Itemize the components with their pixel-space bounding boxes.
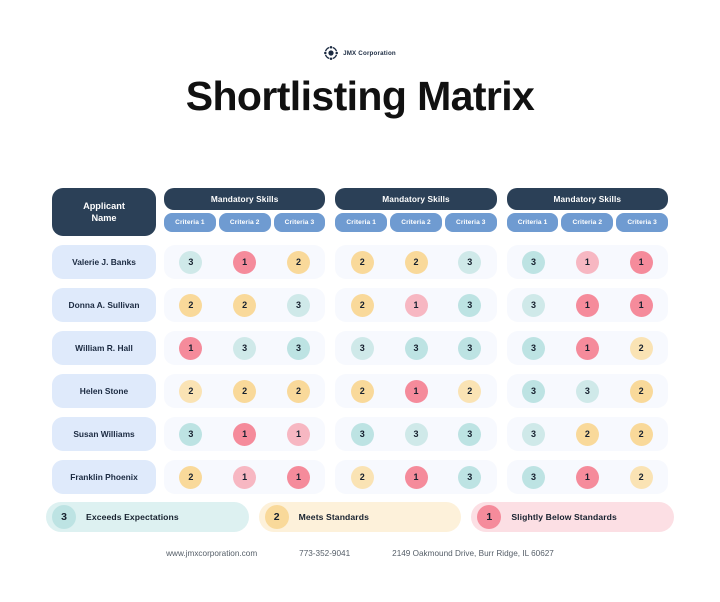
score-cell: 1 [272, 466, 326, 489]
skill-group-1: Mandatory Skills Criteria 1 Criteria 2 C… [164, 188, 325, 236]
score-group-2: 223 [335, 245, 496, 279]
score-cell: 3 [335, 337, 389, 360]
legend-item-1: 1 Slightly Below Standards [471, 502, 674, 532]
score-cell: 3 [507, 466, 561, 489]
score-dot[interactable]: 2 [351, 380, 374, 403]
table-body: Valerie J. Banks312223311Donna A. Sulliv… [52, 245, 668, 494]
score-cell: 3 [389, 423, 443, 446]
score-dot[interactable]: 1 [233, 423, 256, 446]
score-cell: 2 [389, 251, 443, 274]
score-group-2: 333 [335, 417, 496, 451]
table-row: Susan Williams311333322 [52, 417, 668, 451]
score-dot[interactable]: 3 [522, 380, 545, 403]
skill-group-1-criteria: Criteria 1 Criteria 2 Criteria 3 [164, 213, 325, 232]
score-cell: 1 [218, 466, 272, 489]
score-cell: 1 [560, 294, 614, 317]
score-cell: 1 [560, 337, 614, 360]
score-cell: 3 [443, 251, 497, 274]
footer-website[interactable]: www.jmxcorporation.com [166, 549, 257, 558]
legend-item-2: 2 Meets Standards [259, 502, 462, 532]
score-dot[interactable]: 1 [233, 466, 256, 489]
score-group-3: 311 [507, 245, 668, 279]
criteria-pill-g1-c3[interactable]: Criteria 3 [274, 213, 326, 232]
score-cell: 3 [507, 251, 561, 274]
footer-phone: 773-352-9041 [299, 549, 350, 558]
legend-label-2: Meets Standards [299, 512, 369, 522]
skill-group-1-title: Mandatory Skills [164, 188, 325, 210]
legend-dot-3: 3 [52, 505, 76, 529]
score-dot[interactable]: 3 [458, 466, 481, 489]
applicant-name-cell[interactable]: Helen Stone [52, 374, 156, 408]
score-dot[interactable]: 1 [576, 294, 599, 317]
score-cell: 2 [614, 423, 668, 446]
score-dot[interactable]: 2 [233, 294, 256, 317]
score-groups: 133333312 [164, 331, 668, 365]
score-dot[interactable]: 1 [405, 466, 428, 489]
criteria-pill-g2-c2[interactable]: Criteria 2 [390, 213, 442, 232]
score-dot[interactable]: 2 [179, 466, 202, 489]
score-dot[interactable]: 3 [405, 423, 428, 446]
score-group-3: 332 [507, 374, 668, 408]
score-group-2: 333 [335, 331, 496, 365]
score-group-3: 312 [507, 460, 668, 494]
criteria-pill-g3-c3[interactable]: Criteria 3 [616, 213, 668, 232]
score-dot[interactable]: 1 [233, 251, 256, 274]
score-dot[interactable]: 3 [522, 337, 545, 360]
score-dot[interactable]: 2 [630, 380, 653, 403]
score-dot[interactable]: 2 [351, 466, 374, 489]
skill-group-3-title: Mandatory Skills [507, 188, 668, 210]
score-group-1: 133 [164, 331, 325, 365]
score-groups: 311333322 [164, 417, 668, 451]
score-cell: 3 [443, 294, 497, 317]
table-row: Helen Stone222212332 [52, 374, 668, 408]
score-group-1: 223 [164, 288, 325, 322]
skill-group-2-criteria: Criteria 1 Criteria 2 Criteria 3 [335, 213, 496, 232]
score-cell: 3 [443, 466, 497, 489]
score-cell: 3 [507, 294, 561, 317]
score-group-2: 213 [335, 288, 496, 322]
page-title: Shortlisting Matrix [0, 76, 720, 117]
skill-group-2-title: Mandatory Skills [335, 188, 496, 210]
score-dot[interactable]: 3 [458, 251, 481, 274]
score-dot[interactable]: 2 [630, 466, 653, 489]
score-group-1: 211 [164, 460, 325, 494]
score-dot[interactable]: 1 [576, 337, 599, 360]
score-dot[interactable]: 2 [179, 294, 202, 317]
score-dot[interactable]: 1 [576, 251, 599, 274]
score-cell: 2 [164, 380, 218, 403]
score-cell: 3 [443, 423, 497, 446]
score-cell: 2 [335, 466, 389, 489]
score-cell: 2 [335, 380, 389, 403]
score-cell: 1 [389, 466, 443, 489]
score-cell: 2 [335, 294, 389, 317]
score-dot[interactable]: 3 [522, 423, 545, 446]
score-dot[interactable]: 3 [458, 423, 481, 446]
applicant-name-cell[interactable]: William R. Hall [52, 331, 156, 365]
score-dot[interactable]: 1 [287, 423, 310, 446]
score-dot[interactable]: 1 [576, 466, 599, 489]
score-dot[interactable]: 2 [405, 251, 428, 274]
criteria-pill-g3-c1[interactable]: Criteria 1 [507, 213, 559, 232]
score-dot[interactable]: 3 [522, 251, 545, 274]
score-legend: 3 Exceeds Expectations 2 Meets Standards… [46, 502, 674, 532]
score-group-3: 312 [507, 331, 668, 365]
score-cell: 3 [443, 337, 497, 360]
score-dot[interactable]: 3 [351, 337, 374, 360]
applicant-name-cell[interactable]: Susan Williams [52, 417, 156, 451]
score-dot[interactable]: 3 [233, 337, 256, 360]
table-header-row: Applicant Name Mandatory Skills Criteria… [52, 188, 668, 236]
score-dot[interactable]: 3 [522, 466, 545, 489]
score-cell: 1 [560, 466, 614, 489]
score-dot[interactable]: 2 [576, 423, 599, 446]
score-cell: 1 [614, 294, 668, 317]
score-cell: 1 [560, 251, 614, 274]
footer: www.jmxcorporation.com 773-352-9041 2149… [0, 549, 720, 558]
score-dot[interactable]: 2 [287, 251, 310, 274]
score-cell: 2 [164, 294, 218, 317]
score-cell: 3 [164, 423, 218, 446]
score-cell: 3 [164, 251, 218, 274]
score-dot[interactable]: 3 [458, 337, 481, 360]
score-cell: 2 [560, 423, 614, 446]
score-groups: 211213312 [164, 460, 668, 494]
score-dot[interactable]: 3 [351, 423, 374, 446]
score-cell: 3 [389, 337, 443, 360]
legend-label-3: Exceeds Expectations [86, 512, 179, 522]
score-cell: 2 [272, 251, 326, 274]
skill-group-3-criteria: Criteria 1 Criteria 2 Criteria 3 [507, 213, 668, 232]
legend-dot-2: 2 [265, 505, 289, 529]
score-cell: 3 [507, 337, 561, 360]
score-cell: 1 [218, 423, 272, 446]
score-cell: 1 [218, 251, 272, 274]
score-dot[interactable]: 2 [351, 251, 374, 274]
score-dot[interactable]: 1 [405, 380, 428, 403]
score-dot[interactable]: 2 [351, 294, 374, 317]
legend-label-1: Slightly Below Standards [511, 512, 617, 522]
score-cell: 3 [560, 380, 614, 403]
score-dot[interactable]: 2 [630, 337, 653, 360]
score-groups: 223213311 [164, 288, 668, 322]
score-group-1: 312 [164, 245, 325, 279]
applicant-name-cell[interactable]: Valerie J. Banks [52, 245, 156, 279]
score-dot[interactable]: 2 [179, 380, 202, 403]
criteria-pill-g2-c1[interactable]: Criteria 1 [335, 213, 387, 232]
score-cell: 1 [389, 380, 443, 403]
score-cell: 1 [272, 423, 326, 446]
score-cell: 1 [389, 294, 443, 317]
score-cell: 2 [443, 380, 497, 403]
score-cell: 2 [614, 337, 668, 360]
score-cell: 3 [335, 423, 389, 446]
score-group-2: 213 [335, 460, 496, 494]
score-dot[interactable]: 3 [287, 337, 310, 360]
score-dot[interactable]: 2 [233, 380, 256, 403]
score-cell: 1 [614, 251, 668, 274]
applicant-name-header: Applicant Name [52, 188, 156, 236]
score-dot[interactable]: 1 [179, 337, 202, 360]
score-groups: 312223311 [164, 245, 668, 279]
score-cell: 2 [218, 380, 272, 403]
score-dot[interactable]: 2 [630, 423, 653, 446]
score-dot[interactable]: 1 [287, 466, 310, 489]
score-cell: 2 [218, 294, 272, 317]
score-group-3: 322 [507, 417, 668, 451]
criteria-pill-g1-c2[interactable]: Criteria 2 [219, 213, 271, 232]
criteria-pill-g2-c3[interactable]: Criteria 3 [445, 213, 497, 232]
score-group-1: 311 [164, 417, 325, 451]
score-dot[interactable]: 3 [522, 294, 545, 317]
score-cell: 2 [272, 380, 326, 403]
score-dot[interactable]: 3 [576, 380, 599, 403]
table-row: William R. Hall133333312 [52, 331, 668, 365]
score-dot[interactable]: 2 [458, 380, 481, 403]
score-cell: 2 [614, 380, 668, 403]
score-cell: 3 [272, 337, 326, 360]
score-group-1: 222 [164, 374, 325, 408]
legend-item-3: 3 Exceeds Expectations [46, 502, 249, 532]
score-cell: 3 [272, 294, 326, 317]
criteria-pill-g1-c1[interactable]: Criteria 1 [164, 213, 216, 232]
score-cell: 3 [507, 423, 561, 446]
table-row: Donna A. Sullivan223213311 [52, 288, 668, 322]
score-dot[interactable]: 3 [405, 337, 428, 360]
score-cell: 2 [164, 466, 218, 489]
score-cell: 1 [164, 337, 218, 360]
brand-name: JMX Corporation [343, 50, 396, 57]
applicant-name-cell[interactable]: Donna A. Sullivan [52, 288, 156, 322]
applicant-name-header-line1: Applicant [83, 200, 125, 212]
table-row: Valerie J. Banks312223311 [52, 245, 668, 279]
score-group-3: 311 [507, 288, 668, 322]
score-dot[interactable]: 3 [179, 251, 202, 274]
shortlisting-matrix-page: JMX Corporation Shortlisting Matrix Appl… [0, 46, 720, 602]
skill-group-2: Mandatory Skills Criteria 1 Criteria 2 C… [335, 188, 496, 236]
brand-logo: JMX Corporation [0, 46, 720, 60]
circle-dots-logo-icon [324, 46, 338, 60]
table-row: Franklin Phoenix211213312 [52, 460, 668, 494]
skill-group-headers: Mandatory Skills Criteria 1 Criteria 2 C… [164, 188, 668, 236]
criteria-pill-g3-c2[interactable]: Criteria 2 [561, 213, 613, 232]
score-dot[interactable]: 3 [458, 294, 481, 317]
score-cell: 2 [614, 466, 668, 489]
score-cell: 2 [335, 251, 389, 274]
footer-address: 2149 Oakmound Drive, Burr Ridge, IL 6062… [392, 549, 554, 558]
score-dot[interactable]: 1 [405, 294, 428, 317]
score-cell: 3 [218, 337, 272, 360]
score-groups: 222212332 [164, 374, 668, 408]
score-dot[interactable]: 2 [287, 380, 310, 403]
skill-group-3: Mandatory Skills Criteria 1 Criteria 2 C… [507, 188, 668, 236]
score-dot[interactable]: 1 [630, 251, 653, 274]
matrix-table: Applicant Name Mandatory Skills Criteria… [52, 188, 668, 494]
legend-dot-1: 1 [477, 505, 501, 529]
score-group-2: 212 [335, 374, 496, 408]
score-cell: 3 [507, 380, 561, 403]
score-dot[interactable]: 3 [287, 294, 310, 317]
score-dot[interactable]: 3 [179, 423, 202, 446]
applicant-name-header-line2: Name [91, 212, 116, 224]
score-dot[interactable]: 1 [630, 294, 653, 317]
applicant-name-cell[interactable]: Franklin Phoenix [52, 460, 156, 494]
